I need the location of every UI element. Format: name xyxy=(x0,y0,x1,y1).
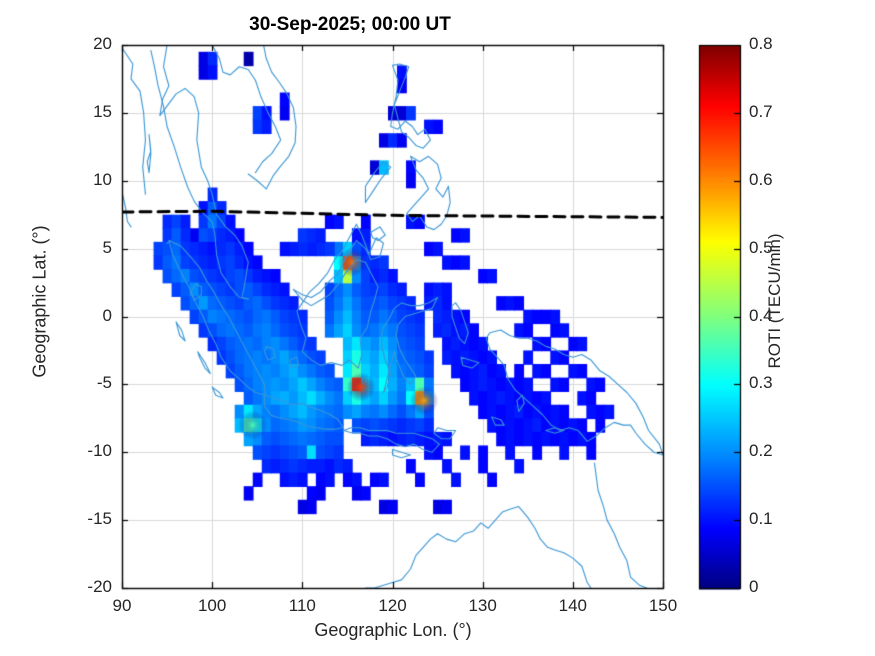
colorbar-tick-0.6: 0.6 xyxy=(749,170,809,190)
x-tick-120: 120 xyxy=(363,596,423,616)
y-tick--5: -5 xyxy=(52,373,112,393)
colorbar-tick-0: 0 xyxy=(749,577,809,597)
roti-heatmap-canvas xyxy=(0,0,875,656)
x-tick-110: 110 xyxy=(272,596,332,616)
x-tick-150: 150 xyxy=(633,596,693,616)
y-tick-15: 15 xyxy=(52,102,112,122)
y-tick-10: 10 xyxy=(52,170,112,190)
colorbar-tick-0.5: 0.5 xyxy=(749,238,809,258)
roti-map-figure: 30-Sep-2025; 00:00 UT Geographic Lon. (°… xyxy=(0,0,875,656)
page-title: 30-Sep-2025; 00:00 UT xyxy=(0,14,700,36)
colorbar-tick-0.2: 0.2 xyxy=(749,441,809,461)
x-tick-100: 100 xyxy=(182,596,242,616)
colorbar-tick-0.8: 0.8 xyxy=(749,34,809,54)
x-tick-90: 90 xyxy=(92,596,152,616)
colorbar-tick-0.3: 0.3 xyxy=(749,373,809,393)
x-axis-title: Geographic Lon. (°) xyxy=(122,620,664,641)
x-tick-130: 130 xyxy=(453,596,513,616)
y-tick-20: 20 xyxy=(52,34,112,54)
y-tick-0: 0 xyxy=(52,306,112,326)
colorbar-tick-0.7: 0.7 xyxy=(749,102,809,122)
y-tick--15: -15 xyxy=(52,509,112,529)
colorbar-tick-0.1: 0.1 xyxy=(749,509,809,529)
colorbar-tick-0.4: 0.4 xyxy=(749,306,809,326)
x-tick-140: 140 xyxy=(543,596,603,616)
y-tick--20: -20 xyxy=(52,577,112,597)
y-tick--10: -10 xyxy=(52,441,112,461)
y-tick-5: 5 xyxy=(52,238,112,258)
y-axis-title: Geographic Lat. (°) xyxy=(30,82,51,522)
